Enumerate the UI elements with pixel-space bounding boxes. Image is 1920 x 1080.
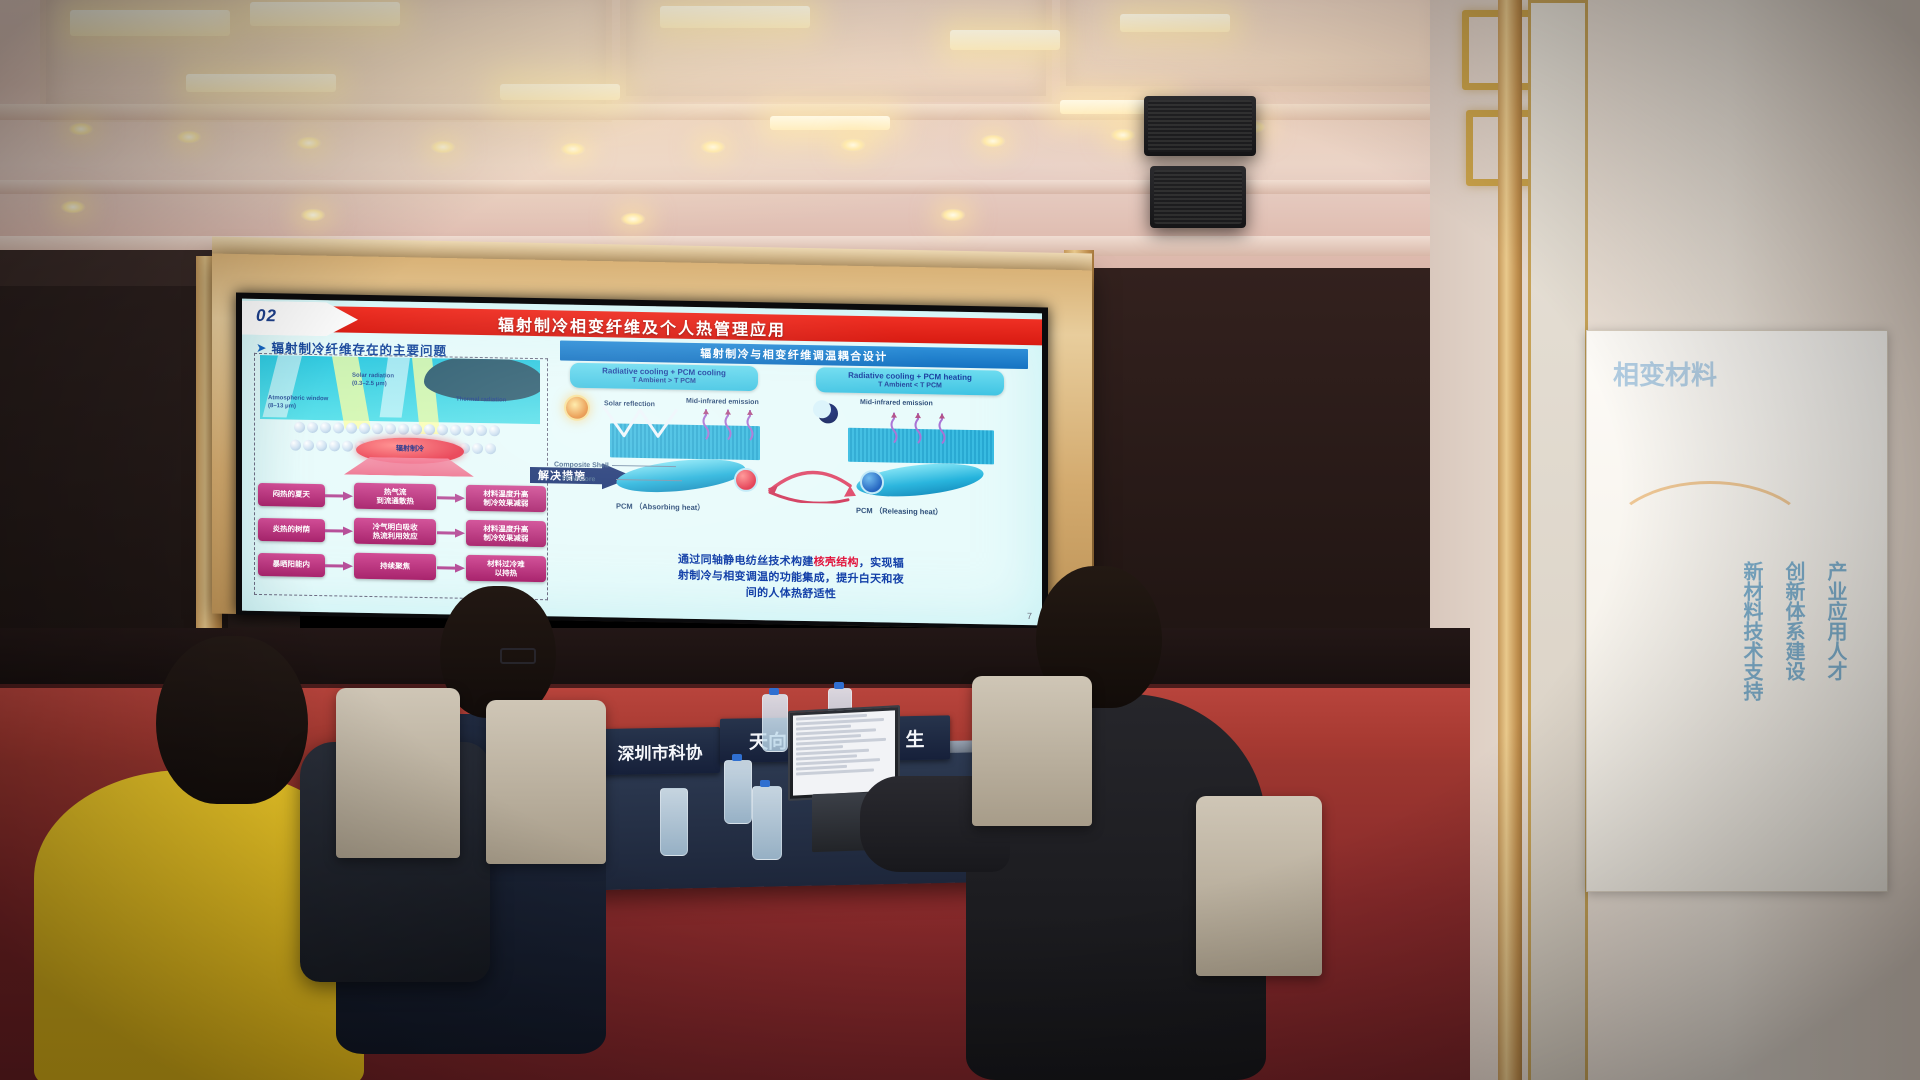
bottle-cap-4 xyxy=(760,780,770,787)
heat-exchange-arrows xyxy=(762,460,858,504)
left-label-pcm-core: PCM Core xyxy=(562,475,595,485)
bottle-cap-3 xyxy=(732,754,742,761)
flow-cause-0: 闷热的夏天 xyxy=(258,482,325,506)
chair-left xyxy=(336,688,460,858)
moon-icon xyxy=(818,403,838,423)
water-bottle-4 xyxy=(752,786,782,860)
illus-label-0: Solar radiation xyxy=(352,373,394,380)
chair-center xyxy=(486,700,606,864)
nameplate-2-text: 生 xyxy=(905,724,924,751)
poster-title: 相变材料 xyxy=(1613,355,1717,392)
left-case-pill: Radiative cooling + PCM cooling T Ambien… xyxy=(570,363,758,391)
flow-cause-1: 炎热的树荫 xyxy=(258,517,325,541)
radiative-cooling-illustration: Solar radiation (0.3–2.5 μm) Atmospheric… xyxy=(260,355,540,480)
ceiling-speaker-lower xyxy=(1150,166,1246,228)
flow-arrow-2b xyxy=(436,562,465,573)
water-bottle-3 xyxy=(724,760,752,824)
right-pcm-core-dot xyxy=(860,470,884,494)
right-label-mid-ir: Mid-infrared emission xyxy=(860,398,933,408)
left-label-composite-shell: Composite Shell xyxy=(554,460,609,470)
flow-row-0: 闷热的夏天 热气流 到流通散热 材料温度升高 制冷效果减弱 xyxy=(258,481,546,512)
slide-page-number: 7 xyxy=(1027,611,1032,621)
water-bottle-1 xyxy=(762,694,788,752)
flow-result-0: 材料温度升高 制冷效果减弱 xyxy=(466,485,546,512)
problem-flowchart: 闷热的夏天 热气流 到流通散热 材料温度升高 制冷效果减弱 炎热的树荫 冷气明白… xyxy=(258,481,546,591)
right-emission-squiggles xyxy=(886,410,972,446)
door-jamb xyxy=(1498,0,1522,1080)
illus-label-4: Thermal radiation xyxy=(456,397,506,404)
flow-row-1: 炎热的树荫 冷气明白吸收 热流利用效应 材料温度升高 制冷效果减弱 xyxy=(258,516,546,547)
flow-arrow-2a xyxy=(325,560,354,571)
flow-middle-0: 热气流 到流通散热 xyxy=(354,483,436,511)
left-leader-lines xyxy=(612,461,686,484)
flow-arrow-1a xyxy=(325,525,354,536)
conference-room-photo: 相变材料 新材料技术支持 创新体系建设 产业应用人才 02 辐射制冷相变纤维及个… xyxy=(0,0,1920,1080)
left-footer-pcm-absorbing: PCM （Absorbing heat） xyxy=(616,502,705,513)
bottle-cap-1 xyxy=(769,688,779,695)
left-emission-squiggles xyxy=(700,407,764,442)
left-pcm-core-dot xyxy=(734,468,758,492)
nameplate-0: 深圳市科协 xyxy=(600,727,720,775)
illus-label-3: (8–13 μm) xyxy=(268,403,296,410)
flow-arrow-1b xyxy=(436,527,465,538)
flow-middle-2: 持续聚焦 xyxy=(354,553,436,581)
illus-label-1: (0.3–2.5 μm) xyxy=(352,381,387,388)
flow-arrow-0a xyxy=(325,490,354,501)
slide-conclusion: 通过同轴静电纺丝技术构建核壳结构，实现辐 射制冷与相变调温的功能集成，提升白天和… xyxy=(554,550,1028,606)
right-footer-pcm-releasing: PCM （Releasing heat） xyxy=(856,506,943,517)
coupled-design-diagram: Radiative cooling + PCM cooling T Ambien… xyxy=(560,360,1030,569)
chair-right xyxy=(972,676,1092,826)
presentation-slide: 02 辐射制冷相变纤维及个人热管理应用 ➤辐射制冷纤维存在的主要问题 辐射制冷与… xyxy=(242,299,1042,626)
ceiling-speaker-upper xyxy=(1144,96,1256,156)
doorway-right xyxy=(1528,0,1588,1080)
chair-far-right xyxy=(1196,796,1322,976)
flow-arrow-0b xyxy=(436,492,465,503)
conclusion-highlight: 核壳结构 xyxy=(814,556,859,569)
left-reflection-rays xyxy=(600,405,690,441)
illus-label-2: Atmospheric window xyxy=(268,395,328,402)
wall-poster: 相变材料 新材料技术支持 创新体系建设 产业应用人才 xyxy=(1586,330,1888,892)
flow-result-1: 材料温度升高 制冷效果减弱 xyxy=(466,520,546,547)
attendee-center-glasses xyxy=(500,648,536,664)
right-panel-title-text: 辐射制冷与相变纤维调温耦合设计 xyxy=(700,345,888,364)
cooling-core-label: 辐射制冷 xyxy=(356,443,464,455)
left-label-mid-ir: Mid-infrared emission xyxy=(686,397,759,407)
conclusion-line-1b: ，实现辐 xyxy=(859,557,904,570)
water-bottle-5 xyxy=(660,788,688,856)
attendee-yellow-head xyxy=(156,636,308,804)
molecule-row-top xyxy=(294,422,500,437)
thermal-radiation-fan xyxy=(344,457,474,477)
flow-cause-2: 暴晒阳能内 xyxy=(258,552,325,576)
sun-icon xyxy=(566,397,588,419)
flow-row-2: 暴晒阳能内 持续聚焦 材料过冷难 以持热 xyxy=(258,551,546,582)
bottle-cap-2 xyxy=(834,682,844,689)
right-case-pill: Radiative cooling + PCM heating T Ambien… xyxy=(816,367,1004,395)
poster-line-2: 产业应用人才 xyxy=(1821,561,1850,681)
conclusion-line-1a: 通过同轴静电纺丝技术构建 xyxy=(678,554,814,568)
nameplate-0-text: 深圳市科协 xyxy=(618,738,703,764)
flow-result-2: 材料过冷难 以持热 xyxy=(466,555,546,582)
flow-middle-1: 冷气明白吸收 热流利用效应 xyxy=(354,518,436,546)
poster-arc-graphic xyxy=(1607,481,1813,597)
